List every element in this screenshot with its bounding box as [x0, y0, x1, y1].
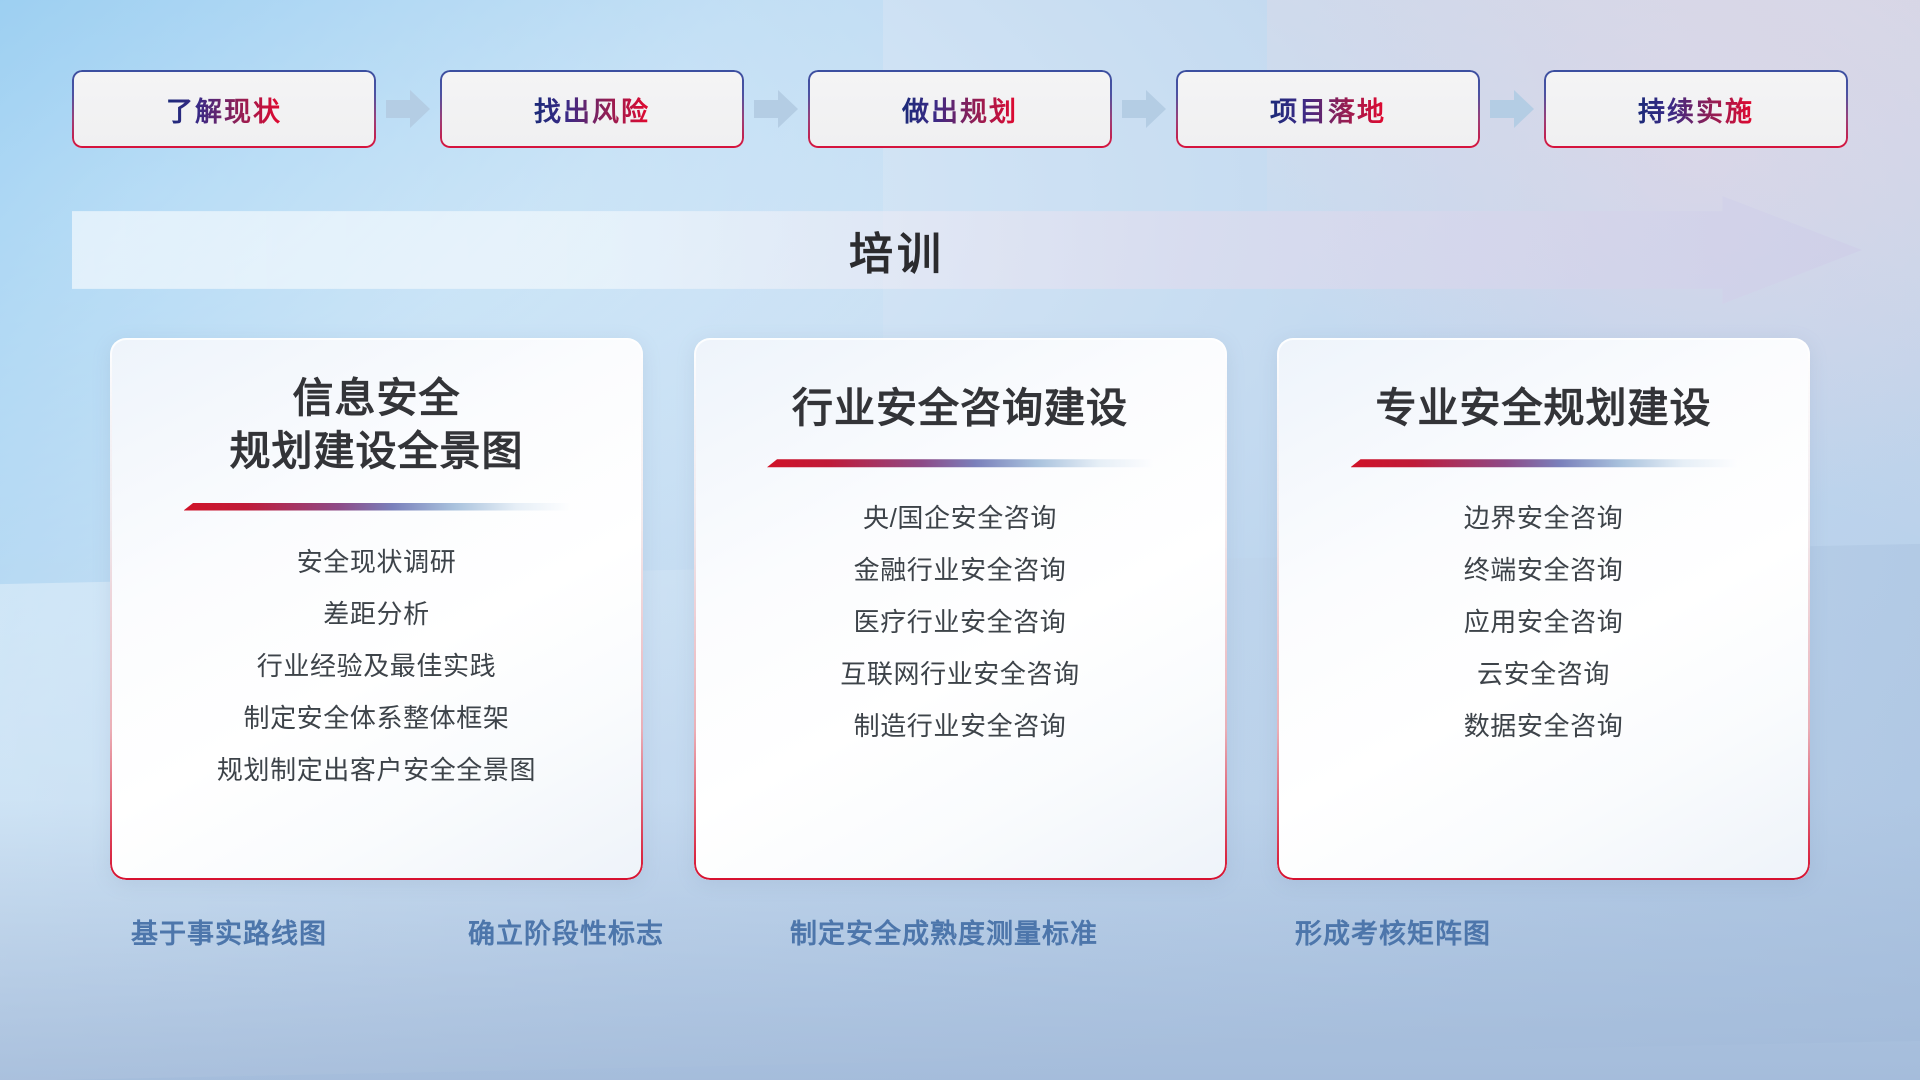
card-inner: 专业安全规划建设 边界安全咨询 终端安全咨询 应用安全咨询 云安全咨询 数据安全… [1277, 338, 1810, 880]
card-title-line: 信息安全 [230, 372, 524, 425]
process-steps-row: 了解现状 找出风险 做出规划 项目落地 持续实施 [72, 70, 1848, 148]
card-divider [1351, 459, 1737, 471]
card-item-list: 边界安全咨询 终端安全咨询 应用安全咨询 云安全咨询 数据安全咨询 [1277, 505, 1810, 739]
card-industry-security-consulting[interactable]: 行业安全咨询建设 央/国企安全咨询 金融行业安全咨询 医疗行业安全咨询 互联网行… [694, 338, 1227, 880]
list-item: 医疗行业安全咨询 [694, 609, 1227, 635]
card-item-list: 安全现状调研 差距分析 行业经验及最佳实践 制定安全体系整体框架 规划制定出客户… [110, 549, 643, 783]
banner-title: 培训 [72, 196, 1862, 304]
step-box-5[interactable]: 持续实施 [1544, 70, 1848, 148]
card-divider-bar [1351, 459, 1737, 471]
step-label-2: 找出风险 [534, 90, 650, 129]
step-box-2[interactable]: 找出风险 [440, 70, 744, 148]
cards-row: 信息安全 规划建设全景图 安全现状调研 差距分析 行业经验及最佳实践 制定安全体… [110, 338, 1810, 880]
step-box-3[interactable]: 做出规划 [808, 70, 1112, 148]
card-title: 专业安全规划建设 [1376, 382, 1712, 435]
card-title-line: 专业安全规划建设 [1376, 382, 1712, 435]
card-divider-bar [767, 459, 1153, 471]
step-label-4: 项目落地 [1270, 90, 1386, 129]
card-title-line: 行业安全咨询建设 [792, 382, 1128, 435]
list-item: 规划制定出客户安全全景图 [110, 757, 643, 783]
arrow-right-icon [754, 90, 798, 128]
list-item: 边界安全咨询 [1277, 505, 1810, 531]
list-item: 行业经验及最佳实践 [110, 653, 643, 679]
list-item: 金融行业安全咨询 [694, 557, 1227, 583]
caption-maturity-standard: 制定安全成熟度测量标准 [790, 912, 1098, 951]
list-item: 差距分析 [110, 601, 643, 627]
card-inner: 行业安全咨询建设 央/国企安全咨询 金融行业安全咨询 医疗行业安全咨询 互联网行… [694, 338, 1227, 880]
arrow-right-icon [1122, 90, 1166, 128]
caption-roadmap: 基于事实路线图 [131, 912, 327, 951]
step-label-1: 了解现状 [166, 90, 282, 129]
list-item: 云安全咨询 [1277, 661, 1810, 687]
step-label-3: 做出规划 [902, 90, 1018, 129]
card-divider-bar [184, 503, 570, 515]
card-title: 信息安全 规划建设全景图 [230, 372, 524, 479]
list-item: 央/国企安全咨询 [694, 505, 1227, 531]
list-item: 数据安全咨询 [1277, 713, 1810, 739]
arrow-right-icon [1490, 90, 1534, 128]
captions-row: 基于事实路线图 确立阶段性标志 制定安全成熟度测量标准 形成考核矩阵图 [0, 912, 1920, 958]
card-title-line: 规划建设全景图 [230, 425, 524, 478]
card-information-security-blueprint[interactable]: 信息安全 规划建设全景图 安全现状调研 差距分析 行业经验及最佳实践 制定安全体… [110, 338, 643, 880]
caption-assessment-matrix: 形成考核矩阵图 [1295, 912, 1491, 951]
list-item: 安全现状调研 [110, 549, 643, 575]
list-item: 制造行业安全咨询 [694, 713, 1227, 739]
card-inner: 信息安全 规划建设全景图 安全现状调研 差距分析 行业经验及最佳实践 制定安全体… [110, 338, 643, 880]
card-divider [767, 459, 1153, 471]
step-label-5: 持续实施 [1638, 90, 1754, 129]
step-box-4[interactable]: 项目落地 [1176, 70, 1480, 148]
caption-milestones: 确立阶段性标志 [468, 912, 664, 951]
card-professional-security-planning[interactable]: 专业安全规划建设 边界安全咨询 终端安全咨询 应用安全咨询 云安全咨询 数据安全… [1277, 338, 1810, 880]
card-item-list: 央/国企安全咨询 金融行业安全咨询 医疗行业安全咨询 互联网行业安全咨询 制造行… [694, 505, 1227, 739]
step-box-1[interactable]: 了解现状 [72, 70, 376, 148]
arrow-right-icon [386, 90, 430, 128]
list-item: 制定安全体系整体框架 [110, 705, 643, 731]
training-banner: 培训 [72, 196, 1862, 304]
list-item: 互联网行业安全咨询 [694, 661, 1227, 687]
list-item: 应用安全咨询 [1277, 609, 1810, 635]
card-title: 行业安全咨询建设 [792, 382, 1128, 435]
card-divider [184, 503, 570, 515]
list-item: 终端安全咨询 [1277, 557, 1810, 583]
